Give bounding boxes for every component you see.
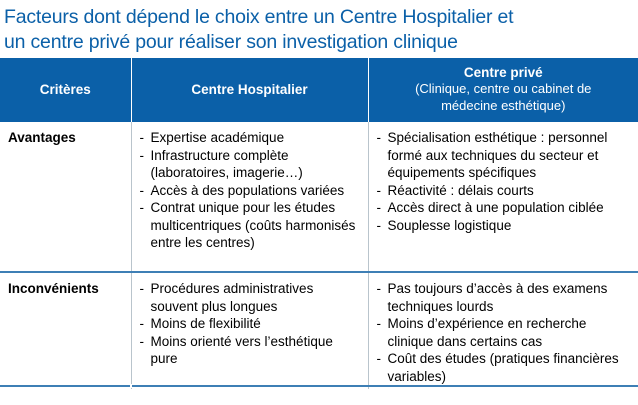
list-item: Moins de flexibilité — [140, 315, 360, 333]
table-row-avantages: Avantages Expertise académiqueInfrastruc… — [0, 122, 638, 272]
table-header-row: Critères Centre Hospitalier Centre privé… — [0, 58, 638, 122]
column-header-public: Centre Hospitalier — [131, 58, 368, 122]
bullet-list-avantages-private: Spécialisation esthétique : personnel fo… — [377, 129, 631, 234]
column-header-criteria-label: Critères — [8, 81, 123, 98]
column-header-criteria: Critères — [0, 58, 131, 122]
cell-avantages-private: Spécialisation esthétique : personnel fo… — [368, 122, 638, 272]
table-bottom-rule — [0, 385, 638, 387]
bullet-list-inconvenients-private: Pas toujours d’accès à des examens techn… — [377, 280, 631, 385]
bullet-list-inconvenients-public: Procédures administratives souvent plus … — [140, 280, 360, 368]
table-row-inconvenients: Inconvénients Procédures administratives… — [0, 272, 638, 389]
list-item: Réactivité : délais courts — [377, 182, 631, 200]
column-header-public-label: Centre Hospitalier — [140, 81, 360, 98]
page-title: Facteurs dont dépend le choix entre un C… — [0, 0, 638, 58]
list-item: Procédures administratives souvent plus … — [140, 280, 360, 315]
row-label-inconvenients: Inconvénients — [8, 280, 123, 297]
list-item: Coût des études (pratiques financières v… — [377, 350, 631, 385]
column-header-private: Centre privé (Clinique, centre ou cabine… — [368, 58, 638, 122]
list-item: Moins orienté vers l’esthétique pure — [140, 333, 360, 368]
list-item: Accès direct à une population ciblée — [377, 199, 631, 217]
column-header-private-sublabel: (Clinique, centre ou cabinet de médecine… — [377, 81, 631, 114]
table-bottom-rule-gap — [130, 384, 132, 388]
cell-inconvenients-private: Pas toujours d’accès à des examens techn… — [368, 272, 638, 389]
comparison-table: Critères Centre Hospitalier Centre privé… — [0, 58, 638, 389]
page-root: Facteurs dont dépend le choix entre un C… — [0, 0, 638, 405]
row-label-avantages: Avantages — [8, 129, 123, 146]
list-item: Spécialisation esthétique : personnel fo… — [377, 129, 631, 182]
list-item: Souplesse logistique — [377, 217, 631, 235]
cell-inconvenients-public: Procédures administratives souvent plus … — [131, 272, 368, 389]
bullet-list-avantages-public: Expertise académiqueInfrastructure compl… — [140, 129, 360, 252]
list-item: Accès à des populations variées — [140, 182, 360, 200]
row-label-cell-inconvenients: Inconvénients — [0, 272, 131, 389]
row-label-cell-avantages: Avantages — [0, 122, 131, 272]
list-item: Contrat unique pour les études multicent… — [140, 199, 360, 252]
list-item: Expertise académique — [140, 129, 360, 147]
list-item: Moins d’expérience en recherche clinique… — [377, 315, 631, 350]
list-item: Pas toujours d’accès à des examens techn… — [377, 280, 631, 315]
column-header-private-label: Centre privé — [377, 64, 631, 81]
cell-avantages-public: Expertise académiqueInfrastructure compl… — [131, 122, 368, 272]
list-item: Infrastructure complète (laboratoires, i… — [140, 147, 360, 182]
